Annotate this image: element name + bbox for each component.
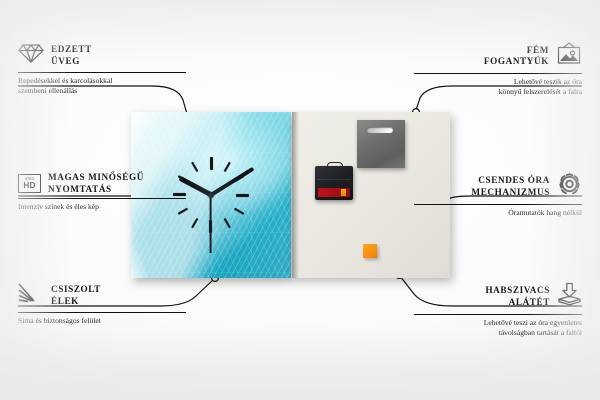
feature-title-line2: ALÁTÉT xyxy=(485,297,550,309)
down-arrow-pad-icon xyxy=(557,282,582,311)
foam-spacer-pad xyxy=(363,244,377,258)
mechanism-seam xyxy=(317,179,351,180)
feature-title-line1: MAGAS MINŐSÉGŰ xyxy=(48,172,144,184)
feature-subtitle-line1: Lehetővé teszi az óra egyenletes xyxy=(414,318,582,328)
ultra-hd-badge-icon: ultra HD xyxy=(18,174,41,193)
feature-title-line2: FOGANTYÚK xyxy=(484,56,549,68)
feature-subtitle-line2: könnyű felszerelését a falra xyxy=(414,87,582,97)
feature-subtitle-line1: Lehetővé teszik az óra xyxy=(414,77,582,87)
feature-subtitle-line1: Sima és biztonságos felület xyxy=(18,316,186,326)
metal-hanger-plate xyxy=(357,120,405,168)
gear-icon xyxy=(557,172,582,201)
feature-silent-mechanism: CSENDES ÓRA MECHANIZMUS Óramutatók hang … xyxy=(414,172,582,218)
divider xyxy=(414,73,582,74)
feature-title-line1: FÉM xyxy=(484,45,549,57)
mechanism-label xyxy=(318,188,350,197)
mechanism-loop xyxy=(327,162,343,169)
feature-subtitle-line1: Intenzív színek és éles kép xyxy=(18,202,186,212)
infographic-stage: EDZETT ÜVEG Repedésekkel és karcolásokka… xyxy=(0,0,600,400)
feature-subtitle-line2: távolságban tartását a faltól xyxy=(414,328,582,338)
feature-foam-pad: HABSZIVACS ALÁTÉT Lehetővé teszi az óra … xyxy=(414,282,582,337)
feature-title-line2: NYOMTATÁS xyxy=(48,184,144,196)
divider xyxy=(18,72,186,73)
hd-badge-main-text: HD xyxy=(23,182,35,190)
feature-polished-edges: CSISZOLT ÉLEK Sima és biztonságos felüle… xyxy=(18,282,186,326)
diamond-icon xyxy=(18,42,44,69)
feature-title-line1: CSENDES ÓRA xyxy=(471,175,550,187)
feature-title-line1: CSISZOLT xyxy=(51,284,101,296)
second-hand xyxy=(210,195,212,253)
feature-subtitle-line1: Óramutatók hang nélkül xyxy=(414,208,582,218)
feature-metal-hangers: FÉM FOGANTYÚK Lehetővé teszik az óra kön… xyxy=(414,42,582,96)
feature-title-line2: MECHANIZMUS xyxy=(471,187,550,199)
divider xyxy=(414,204,582,205)
divider xyxy=(414,314,582,315)
feature-high-quality-print: ultra HD MAGAS MINŐSÉGŰ NYOMTATÁS Intenz… xyxy=(18,172,186,212)
divider xyxy=(18,198,186,199)
picture-hanger-icon xyxy=(556,42,582,70)
feature-title-line2: ÜVEG xyxy=(51,56,92,68)
center-cap xyxy=(208,192,214,198)
diagonal-lines-icon xyxy=(18,282,44,309)
clock-mechanism-box xyxy=(315,166,353,200)
feature-tempered-glass: EDZETT ÜVEG Repedésekkel és karcolásokka… xyxy=(18,42,186,95)
feature-subtitle-line2: szembeni ellenállás xyxy=(18,86,186,96)
feature-title-line1: EDZETT xyxy=(51,44,92,56)
hanger-slot xyxy=(367,127,393,133)
feature-title-line1: HABSZIVACS xyxy=(485,285,550,297)
feature-title-line2: ÉLEK xyxy=(51,296,101,308)
divider xyxy=(18,312,186,313)
feature-subtitle-line1: Repedésekkel és karcolásokkal xyxy=(18,76,186,86)
